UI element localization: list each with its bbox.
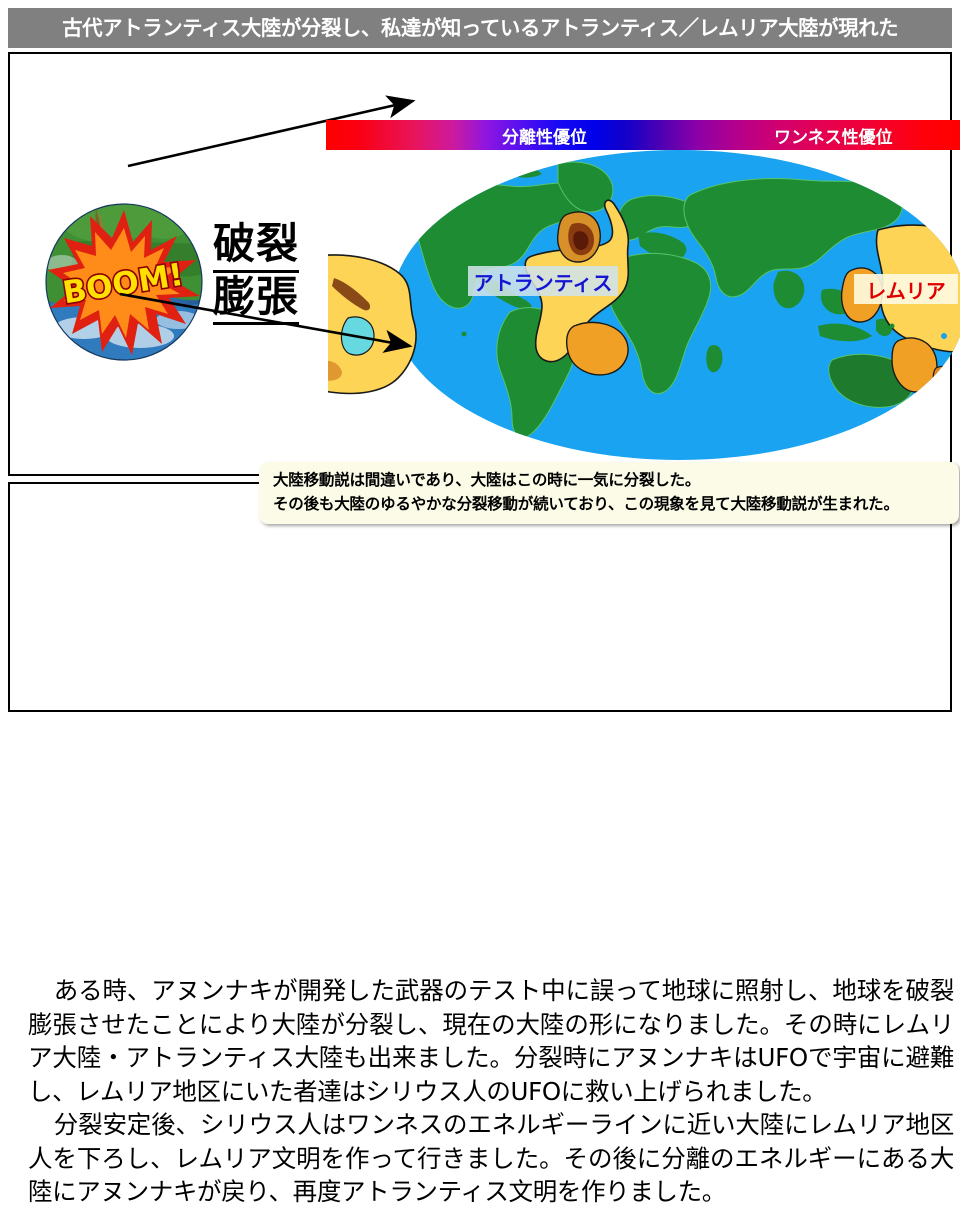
slide-root: 古代アトランティス大陸が分裂し、私達が知っているアトランティス／レムリア大陸が現… bbox=[0, 0, 960, 720]
map-label-lemuria: レムリア bbox=[854, 274, 958, 304]
map-caption-box: 大陸移動説は間違いであり、大陸はこの時に一気に分裂した。 その後も大陸のゆるやか… bbox=[259, 462, 959, 524]
slide-title-bar: 古代アトランティス大陸が分裂し、私達が知っているアトランティス／レムリア大陸が現… bbox=[8, 8, 952, 48]
burst-expand-caption: 破裂 膨張 bbox=[213, 220, 299, 325]
fragment-lake bbox=[341, 317, 374, 355]
caption-line-2: その後も大陸のゆるやかな分裂移動が続いており、この現象を見て大陸移動説が生まれた… bbox=[273, 493, 947, 517]
world-map-svg bbox=[392, 150, 960, 460]
pacific-islet-3 bbox=[462, 332, 467, 337]
left-continent-fragment bbox=[328, 252, 438, 402]
lemuria-tail bbox=[933, 366, 958, 401]
burst-line-1: 破裂 bbox=[213, 220, 299, 273]
pacific-islet-1 bbox=[941, 333, 947, 339]
scale-label-oneness: ワンネス性優位 bbox=[774, 120, 893, 150]
arctic-islands-2 bbox=[504, 164, 542, 177]
arctic-islands bbox=[452, 170, 496, 181]
exploding-earth-graphic: BOOM! bbox=[44, 202, 204, 362]
world-map bbox=[392, 150, 960, 460]
body-paragraph-2: 分裂安定後、シリウス人はワンネスのエネルギーラインに近い大陸にレムリア地区人を下… bbox=[28, 1108, 954, 1209]
body-paragraph-1: ある時、アヌンナキが開発した武器のテスト中に誤って地球に照射し、地球を破裂膨張さ… bbox=[28, 974, 954, 1108]
caption-line-1: 大陸移動説は間違いであり、大陸はこの時に一気に分裂した。 bbox=[273, 469, 947, 493]
body-text-block: ある時、アヌンナキが開発した武器のテスト中に誤って地球に照射し、地球を破裂膨張さ… bbox=[28, 974, 954, 1192]
pacific-islet-2 bbox=[890, 324, 895, 329]
figure-panel: BOOM! 破裂 膨張 bbox=[8, 52, 952, 476]
lemuria-label-text: レムリア bbox=[866, 275, 946, 304]
polarity-scale-bar: 分離性優位 ワンネス性優位 bbox=[326, 120, 960, 150]
burst-line-2: 膨張 bbox=[213, 273, 299, 326]
scale-label-separation: 分離性優位 bbox=[502, 120, 587, 150]
atlantis-label-text: アトランティス bbox=[474, 267, 613, 296]
page-title: 古代アトランティス大陸が分裂し、私達が知っているアトランティス／レムリア大陸が現… bbox=[62, 18, 898, 39]
map-label-atlantis: アトランティス bbox=[468, 266, 618, 296]
new-zealand bbox=[920, 405, 936, 422]
fragment-svg bbox=[328, 252, 438, 402]
boom-earth-svg: BOOM! bbox=[44, 202, 204, 362]
